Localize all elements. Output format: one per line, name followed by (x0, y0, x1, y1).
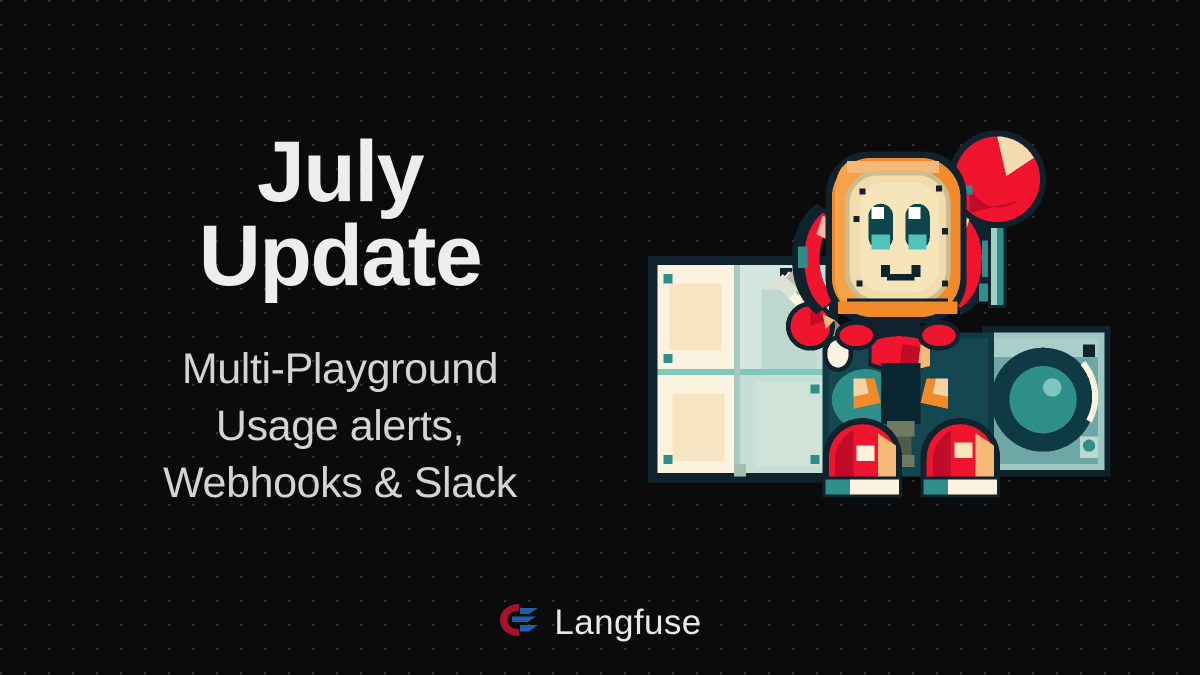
page-title: July Update (60, 130, 620, 299)
promo-graphic: July Update Multi-Playground Usage alert… (0, 0, 1200, 675)
subtitle-block: Multi-Playground Usage alerts, Webhooks … (60, 341, 620, 513)
langfuse-logo-icon (498, 601, 540, 644)
subtitle-line-3: Webhooks & Slack (60, 455, 620, 512)
pixel-art-robot-mascot (645, 118, 1135, 513)
equipment-panel-illustration (982, 326, 1111, 476)
brand-name: Langfuse (554, 605, 701, 640)
title-line-2: Update (60, 214, 620, 298)
title-line-1: July (60, 130, 620, 214)
brand-lockup: Langfuse (0, 601, 1200, 644)
subtitle-line-1: Multi-Playground (60, 341, 620, 398)
robot-head (826, 152, 967, 323)
subtitle-line-2: Usage alerts, (60, 398, 620, 455)
hero-text-block: July Update Multi-Playground Usage alert… (60, 130, 620, 512)
